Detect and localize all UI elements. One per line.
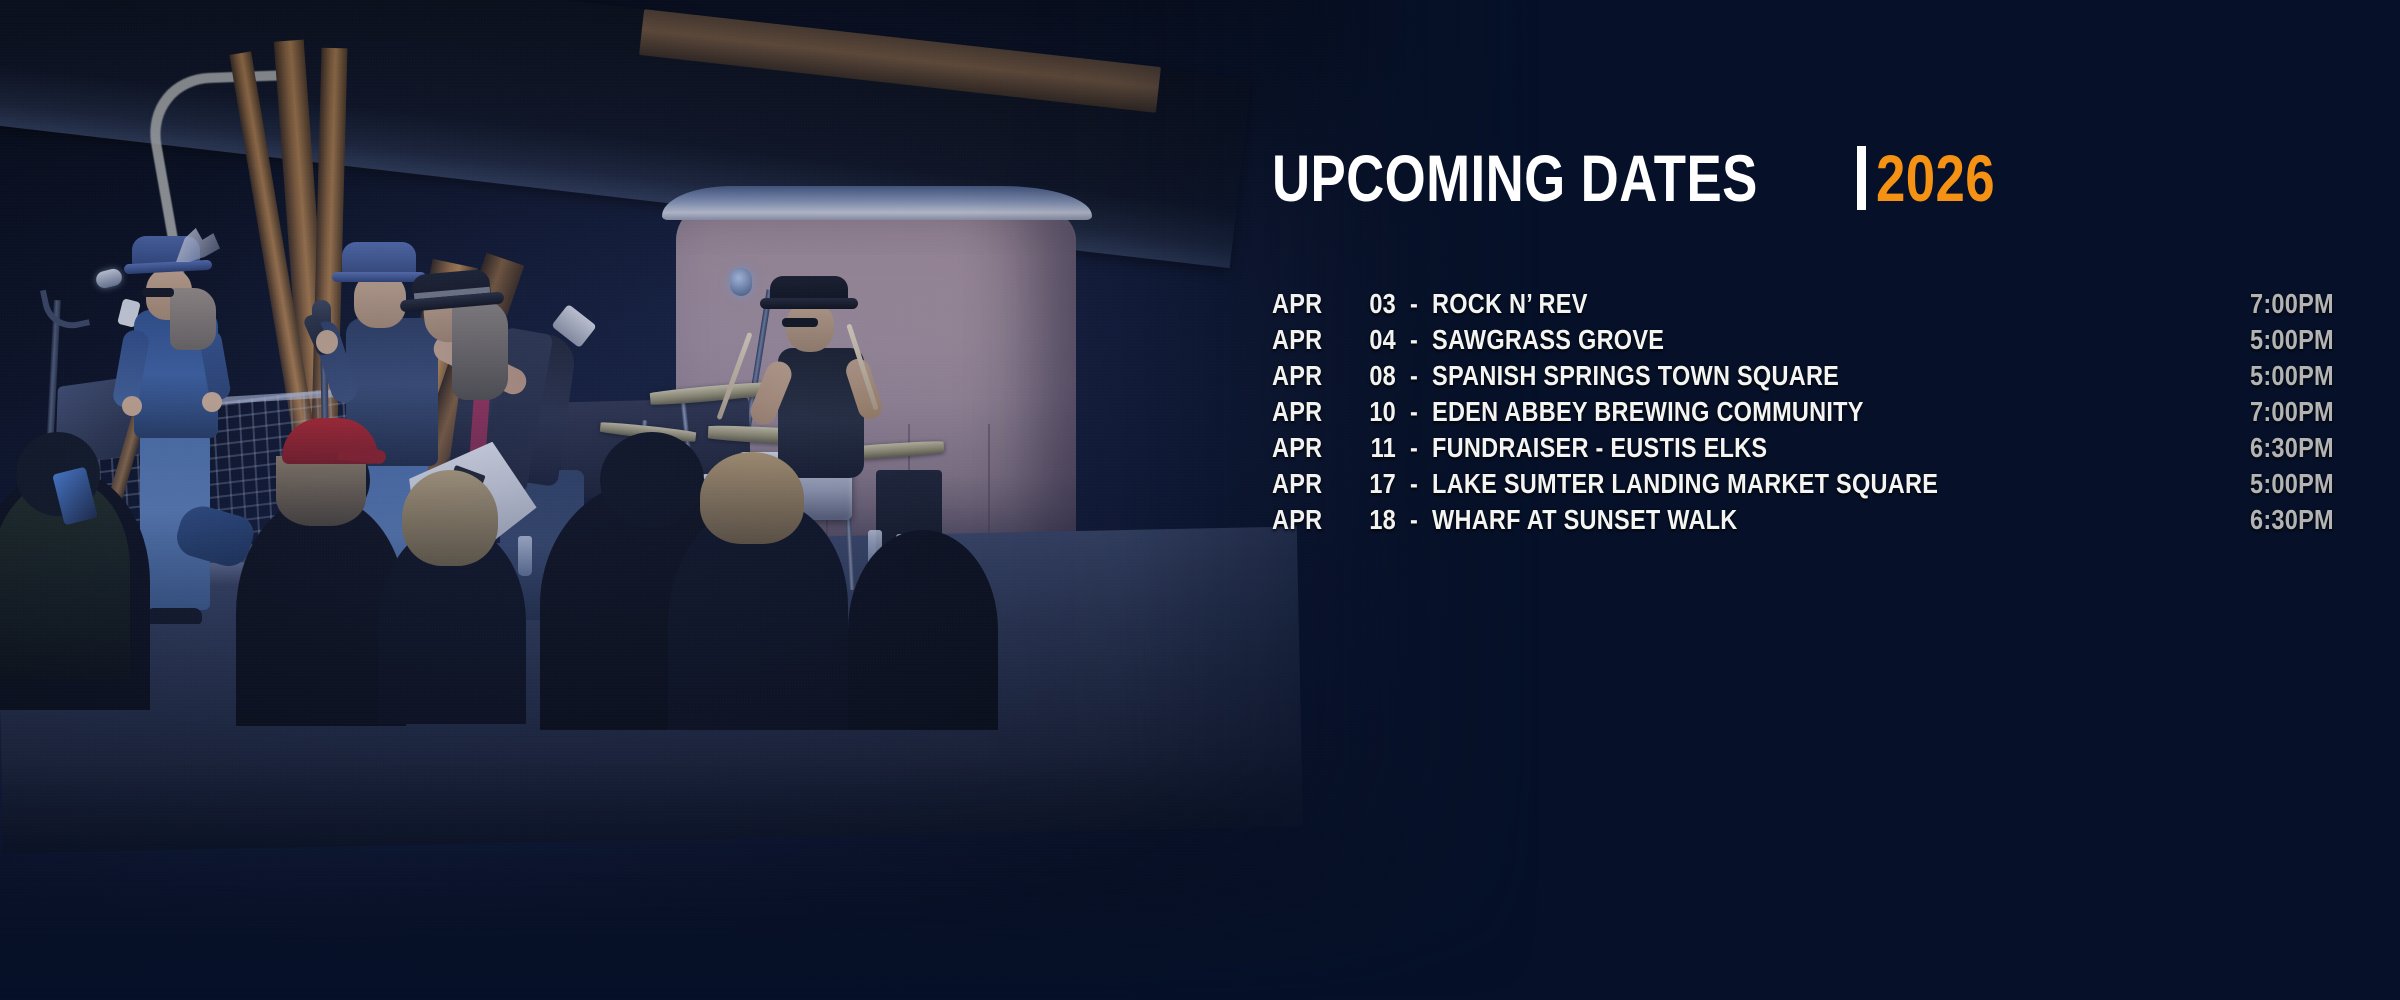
row-separator: - [1399, 468, 1429, 500]
row-time: 5:00PM [2250, 468, 2376, 500]
row-time: 5:00PM [2250, 360, 2376, 392]
row-time: 5:00PM [2250, 324, 2376, 356]
row-month: APR [1272, 468, 1329, 500]
row-venue: SAWGRASS GROVE [1432, 324, 2119, 356]
row-separator: - [1399, 504, 1429, 536]
schedule-row[interactable]: APR17-LAKE SUMTER LANDING MARKET SQUARE5… [1272, 468, 2400, 504]
row-separator: - [1399, 288, 1429, 320]
year-label: 2026 [1876, 147, 1995, 209]
row-day: 17 [1349, 468, 1396, 500]
schedule-row[interactable]: APR18-WHARF AT SUNSET WALK6:30PM [1272, 504, 2400, 540]
row-time: 6:30PM [2250, 432, 2376, 464]
promo-banner: UPCOMING DATES 2026 APR03-ROCK N’ REV7:0… [0, 0, 2400, 1000]
row-month: APR [1272, 396, 1329, 428]
row-month: APR [1272, 360, 1329, 392]
row-day: 03 [1349, 288, 1396, 320]
row-venue: SPANISH SPRINGS TOWN SQUARE [1432, 360, 2119, 392]
schedule-row[interactable]: APR03-ROCK N’ REV7:00PM [1272, 288, 2400, 324]
row-time: 6:30PM [2250, 504, 2376, 536]
row-month: APR [1272, 324, 1329, 356]
schedule-row[interactable]: APR08-SPANISH SPRINGS TOWN SQUARE5:00PM [1272, 360, 2400, 396]
schedule-panel: UPCOMING DATES 2026 APR03-ROCK N’ REV7:0… [1272, 0, 2400, 1000]
schedule-list: APR03-ROCK N’ REV7:00PMAPR04-SAWGRASS GR… [1272, 288, 2400, 540]
row-venue: FUNDRAISER - EUSTIS ELKS [1432, 432, 2119, 464]
row-day: 11 [1349, 432, 1396, 464]
row-time: 7:00PM [2250, 396, 2376, 428]
page-title: UPCOMING DATES 2026 [1272, 146, 2025, 210]
row-venue: EDEN ABBEY BREWING COMMUNITY [1432, 396, 2119, 428]
row-time: 7:00PM [2250, 288, 2376, 320]
row-month: APR [1272, 288, 1329, 320]
row-venue: WHARF AT SUNSET WALK [1432, 504, 2119, 536]
page-title-text: UPCOMING DATES [1272, 147, 1758, 209]
row-separator: - [1399, 324, 1429, 356]
row-day: 04 [1349, 324, 1396, 356]
row-separator: - [1399, 432, 1429, 464]
row-venue: ROCK N’ REV [1432, 288, 2119, 320]
schedule-row[interactable]: APR04-SAWGRASS GROVE5:00PM [1272, 324, 2400, 360]
row-separator: - [1399, 396, 1429, 428]
row-month: APR [1272, 432, 1329, 464]
row-day: 10 [1349, 396, 1396, 428]
row-day: 18 [1349, 504, 1396, 536]
title-divider [1857, 146, 1866, 210]
schedule-row[interactable]: APR10-EDEN ABBEY BREWING COMMUNITY7:00PM [1272, 396, 2400, 432]
schedule-row[interactable]: APR11-FUNDRAISER - EUSTIS ELKS6:30PM [1272, 432, 2400, 468]
row-day: 08 [1349, 360, 1396, 392]
row-separator: - [1399, 360, 1429, 392]
row-venue: LAKE SUMTER LANDING MARKET SQUARE [1432, 468, 2119, 500]
row-month: APR [1272, 504, 1329, 536]
